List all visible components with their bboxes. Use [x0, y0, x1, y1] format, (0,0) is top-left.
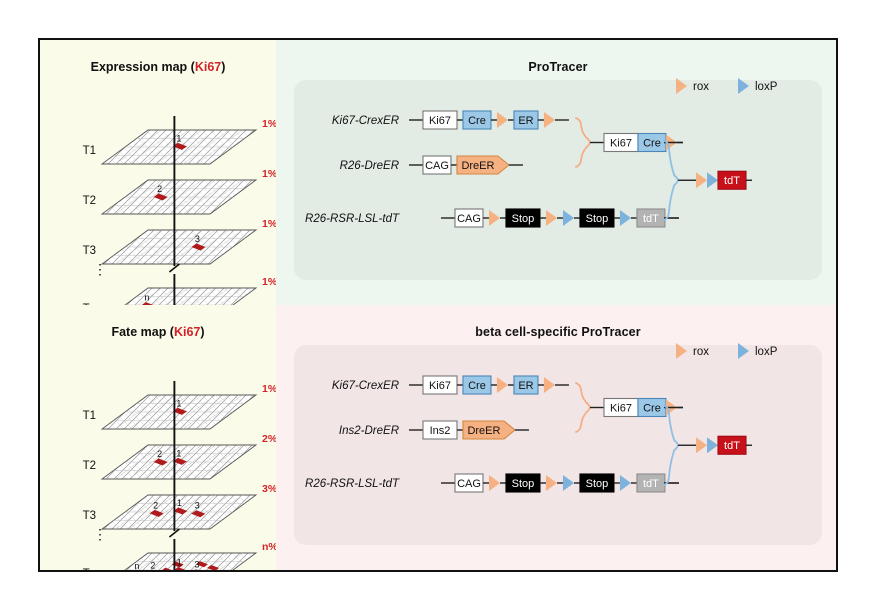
ellipsis: ⋮ [93, 261, 107, 277]
gene-box-label: CAG [457, 213, 481, 225]
time-plane: 21 [102, 445, 256, 479]
construct-elements: CAGDreER [409, 156, 523, 174]
fate-map-graphic: 1T11%21T22%213T33%n213Tnn%Time (T)⋮ [40, 305, 276, 570]
loxp-triangle [707, 437, 718, 453]
gene-box-label: Cre [643, 137, 661, 149]
percent-label: 1% [262, 218, 276, 230]
percent-label: 1% [262, 276, 276, 288]
ellipsis: ⋮ [93, 526, 107, 542]
gene-box-label: Cre [468, 380, 486, 392]
rox-triangle [497, 377, 508, 393]
time-plane: 1 [102, 395, 256, 429]
time-label: Tn [83, 568, 96, 570]
gene-box-label: Ki67 [610, 137, 632, 149]
construct-label: R26-DreER [340, 160, 399, 172]
gene-box-label: CAG [457, 478, 481, 490]
rox-triangle [497, 112, 508, 128]
percent-label: 1% [262, 383, 276, 395]
loxp-triangle [620, 475, 631, 491]
legend-label: rox [693, 346, 709, 358]
protracer-diagram: Ki67-CrexERR26-DreERR26-RSR-LSL-tdTKi67C… [276, 40, 838, 305]
cell-number: 1 [177, 558, 182, 568]
cell-number: 1 [177, 498, 182, 508]
time-label: T2 [83, 460, 96, 472]
percent-label: n% [262, 541, 276, 553]
construct-label: Ki67-CrexER [332, 115, 399, 127]
loxp-triangle [707, 172, 718, 188]
construct-elements: tdT [690, 436, 752, 454]
construct-elements: tdT [690, 171, 752, 189]
rox-triangle [544, 112, 555, 128]
loxp-triangle [563, 210, 574, 226]
brace-connector [576, 118, 590, 167]
construct-elements: Ins2DreER [409, 421, 529, 439]
time-label: T1 [83, 145, 96, 157]
cell-number: n [134, 561, 139, 570]
cell-number: 2 [157, 449, 162, 459]
cell-number: 1 [176, 133, 181, 143]
beta-protracer-diagram: Ki67-CrexERIns2-DreERR26-RSR-LSL-tdTKi67… [276, 305, 838, 570]
gene-pentagon-label: DreER [461, 160, 494, 172]
gene-box-label: ER [518, 115, 533, 127]
gene-box-label: tdT [724, 440, 740, 452]
construct-elements: Ki67CreER [409, 111, 569, 129]
rox-triangle [676, 343, 687, 359]
cell-number: 3 [195, 234, 200, 244]
gene-box-label: tdT [643, 213, 659, 225]
construct-elements: CAGStopStoptdT [441, 209, 679, 227]
percent-label: 2% [262, 433, 276, 445]
gene-box-label: Ki67 [610, 402, 632, 414]
gene-box-label: tdT [643, 478, 659, 490]
gene-box-label: Ki67 [429, 115, 451, 127]
expression-map: Expression map (Ki67) 1T11%2T21%3T31%nTn… [40, 40, 276, 305]
gene-box-label: Cre [643, 402, 661, 414]
cell-number: 2 [153, 500, 158, 510]
time-label: T3 [83, 510, 96, 522]
construct-label: Ins2-DreER [339, 425, 399, 437]
rox-triangle [546, 475, 557, 491]
cell-number: 1 [176, 398, 181, 408]
brace-connector [664, 406, 678, 486]
rox-triangle [489, 475, 500, 491]
loxp-triangle [738, 78, 749, 94]
rox-triangle [676, 78, 687, 94]
gene-box-label: Ins2 [430, 425, 451, 437]
panel-beta-protracer: beta cell-specific ProTracer Ki67-CrexER… [276, 305, 838, 570]
legend-label: rox [693, 81, 709, 93]
rox-triangle [489, 210, 500, 226]
cell-number: 3 [195, 501, 200, 511]
cell-number: 2 [150, 560, 155, 570]
legend-label: loxP [755, 346, 778, 358]
cell-number: 3 [194, 560, 199, 570]
time-plane: 1 [102, 130, 256, 164]
expression-map-graphic: 1T11%2T21%3T31%nTn1%Time (T)⋮ [40, 40, 276, 305]
cell-number: 2 [157, 184, 162, 194]
loxp-triangle [738, 343, 749, 359]
gene-box-label: Stop [586, 478, 609, 490]
rox-triangle [544, 377, 555, 393]
gene-box-label: Stop [586, 213, 609, 225]
gene-box-label: Stop [512, 213, 535, 225]
panel-maps: Expression map (Ki67) 1T11%2T21%3T31%nTn… [40, 40, 276, 570]
gene-box-label: Stop [512, 478, 535, 490]
rox-triangle [696, 172, 707, 188]
construct-label: R26-RSR-LSL-tdT [305, 478, 400, 490]
time-label: T1 [83, 410, 96, 422]
cell-number: 1 [176, 448, 181, 458]
panel-protracer: ProTracer Ki67-CrexERR26-DreERR26-RSR-LS… [276, 40, 838, 305]
percent-label: 3% [262, 483, 276, 495]
time-plane: 2 [102, 180, 256, 214]
gene-box-label: ER [518, 380, 533, 392]
time-plane: n [102, 288, 256, 305]
legend-label: loxP [755, 81, 778, 93]
brace-connector [576, 383, 590, 432]
gene-pentagon-label: DreER [467, 425, 500, 437]
rox-triangle [696, 437, 707, 453]
cell-number: n [144, 293, 149, 303]
rox-triangle [546, 210, 557, 226]
brace-connector [664, 141, 678, 221]
construct-label: Ki67-CrexER [332, 380, 399, 392]
time-plane: n213 [102, 553, 256, 570]
loxp-triangle [620, 210, 631, 226]
construct-elements: CAGStopStoptdT [441, 474, 679, 492]
construct-elements: Ki67CreER [409, 376, 569, 394]
figure-frame: Expression map (Ki67) 1T11%2T21%3T31%nTn… [38, 38, 838, 572]
percent-label: 1% [262, 168, 276, 180]
time-label: T3 [83, 245, 96, 257]
construct-label: R26-RSR-LSL-tdT [305, 213, 400, 225]
time-label: T2 [83, 195, 96, 207]
gene-box-label: Ki67 [429, 380, 451, 392]
gene-box-label: CAG [425, 160, 449, 172]
percent-label: 1% [262, 118, 276, 130]
gene-box-label: tdT [724, 175, 740, 187]
time-plane: 213 [102, 495, 256, 529]
loxp-triangle [563, 475, 574, 491]
gene-box-label: Cre [468, 115, 486, 127]
fate-map: Fate map (Ki67) 1T11%21T22%213T33%n213Tn… [40, 305, 276, 570]
time-plane: 3 [102, 230, 256, 264]
